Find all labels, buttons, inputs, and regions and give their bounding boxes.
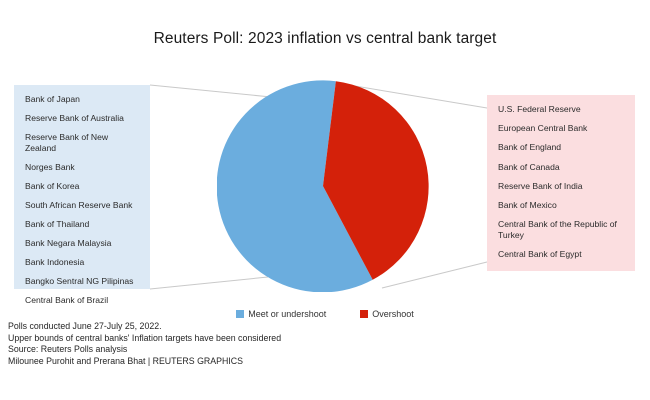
page-title: Reuters Poll: 2023 inflation vs central … (0, 30, 650, 48)
list-item: Central Bank of Brazil (25, 295, 141, 306)
list-item: Reserve Bank of New Zealand (25, 132, 141, 154)
list-item: Bank of Canada (498, 162, 626, 173)
annotation-box-meet-or-undershoot: Bank of Japan Reserve Bank of Australia … (14, 85, 150, 289)
list-item: Reserve Bank of India (498, 181, 626, 192)
list-item: Bank of England (498, 142, 626, 153)
list-item: Bank of Thailand (25, 219, 141, 230)
annotation-box-overshoot: U.S. Federal Reserve European Central Ba… (487, 95, 635, 271)
list-item: Central Bank of the Republic of Turkey (498, 219, 626, 241)
list-item: Bank of Japan (25, 94, 141, 105)
list-item: South African Reserve Bank (25, 200, 141, 211)
list-item: Bank Negara Malaysia (25, 238, 141, 249)
list-item: Bank of Korea (25, 181, 141, 192)
legend-label: Overshoot (372, 309, 414, 319)
chart-canvas: Reuters Poll: 2023 inflation vs central … (0, 0, 650, 400)
list-item: Bangko Sentral NG Pilipinas (25, 276, 141, 287)
list-item: Bank Indonesia (25, 257, 141, 268)
legend-swatch-icon (360, 310, 368, 318)
chart-legend: Meet or undershoot Overshoot (0, 309, 650, 319)
list-item: Reserve Bank of Australia (25, 113, 141, 124)
legend-item-meet-or-undershoot[interactable]: Meet or undershoot (236, 309, 326, 319)
list-item: U.S. Federal Reserve (498, 104, 626, 115)
legend-item-overshoot[interactable]: Overshoot (360, 309, 414, 319)
footer-line: Source: Reuters Polls analysis (8, 344, 628, 356)
list-item: Bank of Mexico (498, 200, 626, 211)
footer-line: Upper bounds of central banks' Inflation… (8, 333, 628, 345)
footer-line: Polls conducted June 27-July 25, 2022. (8, 321, 628, 333)
footer-notes: Polls conducted June 27-July 25, 2022. U… (8, 321, 628, 367)
pie-chart (217, 80, 429, 292)
legend-swatch-icon (236, 310, 244, 318)
footer-line-credit: Milounee Purohit and Prerana Bhat | REUT… (8, 356, 628, 368)
legend-label: Meet or undershoot (248, 309, 326, 319)
list-item: Central Bank of Egypt (498, 249, 626, 260)
list-item: Norges Bank (25, 162, 141, 173)
list-item: European Central Bank (498, 123, 626, 134)
